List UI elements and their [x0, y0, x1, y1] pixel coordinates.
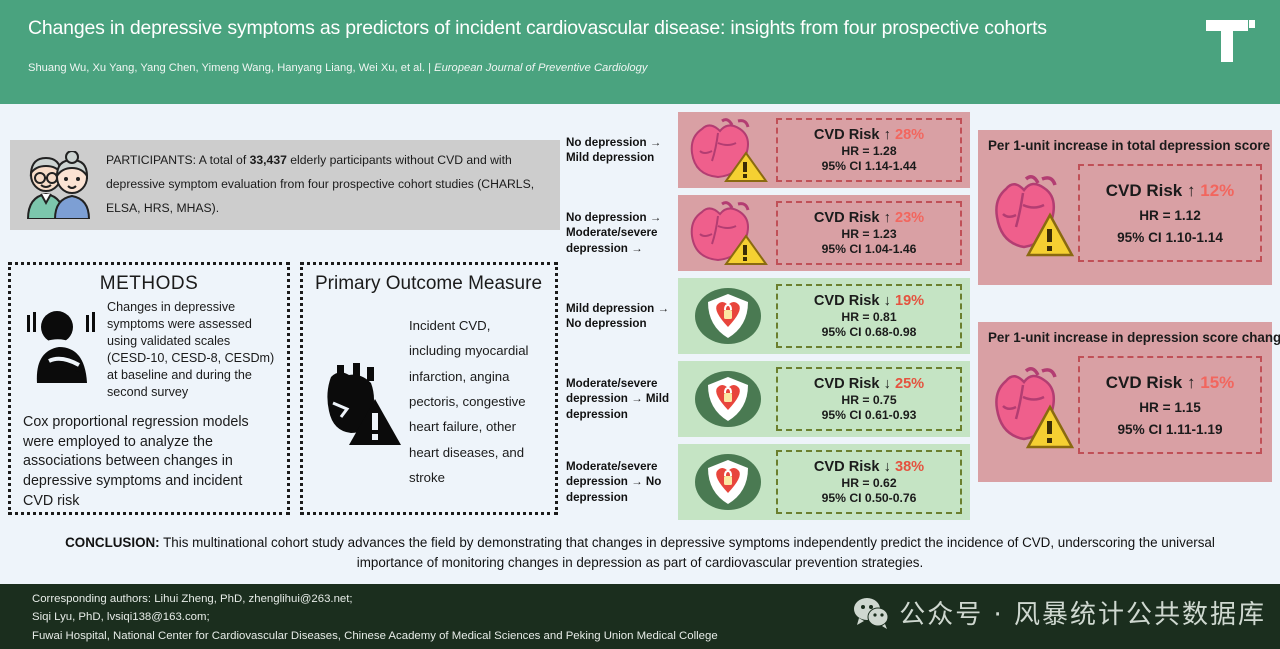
row-arrow-icon: ↑	[884, 127, 891, 143]
panel-ci: 95% CI 1.11-1.19	[1117, 422, 1222, 437]
row-hr: HR = 1.28	[841, 144, 896, 158]
row-percent: 19%	[895, 293, 924, 309]
row-percent: 23%	[895, 210, 924, 226]
row-percent: 25%	[895, 376, 924, 392]
row-risk-label: CVD Risk	[814, 293, 880, 309]
row-risk-headline: CVD Risk ↓ 25%	[814, 376, 924, 392]
anatomical-heart-warning-icon	[682, 200, 774, 266]
results-rows: No depression → Mild depression CVD Risk…	[566, 112, 970, 527]
panel-title: Per 1-unit increase in total depression …	[988, 138, 1262, 153]
row-hr: HR = 0.81	[841, 310, 896, 324]
outcome-title: Primary Outcome Measure	[315, 273, 543, 295]
panel-risk-label: CVD Risk	[1106, 181, 1183, 200]
author-names: Shuang Wu, Xu Yang, Yang Chen, Yimeng Wa…	[28, 62, 434, 74]
row-risk-label: CVD Risk	[814, 459, 880, 475]
panel-risk-headline: CVD Risk ↑ 15%	[1106, 373, 1235, 393]
primary-outcome-box: Primary Outcome Measure Incident CVD, in…	[300, 262, 558, 515]
watermark-text: 公众号 · 风暴统计公共数据库	[899, 594, 1266, 631]
table-row: No depression → Mild depression CVD Risk…	[566, 112, 970, 188]
participants-label: PARTICIPANTS:	[106, 153, 196, 167]
table-row: No depression → Moderate/severe depressi…	[566, 195, 970, 271]
row-ci: 95% CI 1.14-1.44	[822, 159, 917, 173]
conclusion-body: This multinational cohort study advances…	[160, 535, 1215, 570]
row-risk-headline: CVD Risk ↑ 28%	[814, 127, 924, 143]
row-hr: HR = 0.62	[841, 476, 896, 490]
journal-logo-icon	[1198, 12, 1256, 64]
participants-text: PARTICIPANTS: A total of 33,437 elderly …	[106, 149, 548, 220]
row-risk-label: CVD Risk	[814, 127, 880, 143]
row-arrow-icon: ↑	[884, 210, 891, 226]
row-label: No depression → Mild depression	[566, 135, 678, 166]
depression-score-change-panel: Per 1-unit increase in depression score …	[978, 322, 1272, 482]
methods-box: METHODS Changes in depressive symptoms w…	[8, 262, 290, 515]
table-row: Moderate/severe depression → No depressi…	[566, 444, 970, 520]
row-risk-label: CVD Risk	[814, 376, 880, 392]
anatomical-heart-warning-icon	[988, 167, 1074, 259]
header-banner: Changes in depressive symptoms as predic…	[0, 0, 1280, 104]
panel-percent: 12%	[1200, 181, 1234, 200]
row-arrow-icon: ↓	[884, 376, 891, 392]
shield-heart-lock-icon	[682, 366, 774, 432]
row-stats: CVD Risk ↑ 28% HR = 1.28 95% CI 1.14-1.4…	[776, 118, 962, 182]
outcome-text: Incident CVD, including myocardial infar…	[409, 313, 543, 490]
panel-hr: HR = 1.15	[1139, 400, 1201, 415]
row-card: CVD Risk ↓ 19% HR = 0.81 95% CI 0.68-0.9…	[678, 278, 970, 354]
methods-paragraph-2: Cox proportional regression models were …	[23, 413, 275, 512]
row-hr: HR = 1.23	[841, 227, 896, 241]
elderly-couple-icon	[22, 151, 94, 219]
row-risk-headline: CVD Risk ↓ 38%	[814, 459, 924, 475]
row-label: Moderate/severe depression → Mild depres…	[566, 376, 678, 423]
row-percent: 28%	[895, 127, 924, 143]
panel-percent: 15%	[1200, 373, 1234, 392]
page-title: Changes in depressive symptoms as predic…	[28, 16, 1260, 40]
conclusion-section: CONCLUSION: This multinational cohort st…	[0, 527, 1280, 584]
row-risk-headline: CVD Risk ↑ 23%	[814, 210, 924, 226]
anatomical-heart-warning-icon	[988, 359, 1074, 451]
participants-panel: PARTICIPANTS: A total of 33,437 elderly …	[10, 140, 560, 230]
table-row: Moderate/severe depression → Mild depres…	[566, 361, 970, 437]
row-percent: 38%	[895, 459, 924, 475]
conclusion-text: CONCLUSION: This multinational cohort st…	[46, 533, 1234, 574]
participants-text-before: A total of	[196, 153, 250, 167]
row-label: No depression → Moderate/severe depressi…	[566, 210, 678, 257]
row-stats: CVD Risk ↓ 38% HR = 0.62 95% CI 0.50-0.7…	[776, 450, 962, 514]
heart-warning-icon	[315, 359, 401, 445]
row-stats: CVD Risk ↓ 25% HR = 0.75 95% CI 0.61-0.9…	[776, 367, 962, 431]
row-card: CVD Risk ↑ 28% HR = 1.28 95% CI 1.14-1.4…	[678, 112, 970, 188]
depressed-person-icon	[23, 303, 101, 385]
row-ci: 95% CI 0.61-0.93	[822, 408, 917, 422]
row-risk-label: CVD Risk	[814, 210, 880, 226]
footer-bar: Corresponding authors: Lihui Zheng, PhD,…	[0, 584, 1280, 649]
journal-name: European Journal of Preventive Cardiolog…	[434, 62, 647, 74]
panel-risk-headline: CVD Risk ↑ 12%	[1106, 181, 1235, 201]
row-stats: CVD Risk ↓ 19% HR = 0.81 95% CI 0.68-0.9…	[776, 284, 962, 348]
anatomical-heart-warning-icon	[682, 117, 774, 183]
row-arrow-icon: ↓	[884, 459, 891, 475]
row-card: CVD Risk ↑ 23% HR = 1.23 95% CI 1.04-1.4…	[678, 195, 970, 271]
panel-arrow-icon: ↑	[1187, 373, 1196, 392]
panel-title: Per 1-unit increase in depression score …	[988, 330, 1262, 345]
graphical-abstract-page: Changes in depressive symptoms as predic…	[0, 0, 1280, 649]
panel-ci: 95% CI 1.10-1.14	[1117, 230, 1223, 245]
participants-count: 33,437	[250, 153, 287, 167]
row-risk-headline: CVD Risk ↓ 19%	[814, 293, 924, 309]
panel-arrow-icon: ↑	[1187, 181, 1196, 200]
author-line: Shuang Wu, Xu Yang, Yang Chen, Yimeng Wa…	[28, 61, 1260, 77]
row-ci: 95% CI 0.68-0.98	[822, 325, 917, 339]
panel-risk-label: CVD Risk	[1106, 373, 1183, 392]
row-ci: 95% CI 1.04-1.46	[822, 242, 917, 256]
methods-paragraph-1: Changes in depressive symptoms were asse…	[107, 299, 275, 401]
shield-heart-lock-icon	[682, 283, 774, 349]
total-depression-score-panel: Per 1-unit increase in total depression …	[978, 130, 1272, 285]
row-arrow-icon: ↓	[884, 293, 891, 309]
row-label: Mild depression → No depression	[566, 301, 678, 332]
row-hr: HR = 0.75	[841, 393, 896, 407]
row-card: CVD Risk ↓ 25% HR = 0.75 95% CI 0.61-0.9…	[678, 361, 970, 437]
row-card: CVD Risk ↓ 38% HR = 0.62 95% CI 0.50-0.7…	[678, 444, 970, 520]
row-stats: CVD Risk ↑ 23% HR = 1.23 95% CI 1.04-1.4…	[776, 201, 962, 265]
panel-stats: CVD Risk ↑ 12% HR = 1.12 95% CI 1.10-1.1…	[1078, 164, 1262, 262]
conclusion-label: CONCLUSION:	[65, 535, 159, 550]
wechat-icon	[853, 597, 889, 629]
table-row: Mild depression → No depression CVD Risk…	[566, 278, 970, 354]
panel-stats: CVD Risk ↑ 15% HR = 1.15 95% CI 1.11-1.1…	[1078, 356, 1262, 454]
row-ci: 95% CI 0.50-0.76	[822, 491, 917, 505]
panel-hr: HR = 1.12	[1139, 208, 1201, 223]
shield-heart-lock-icon	[682, 449, 774, 515]
watermark: 公众号 · 风暴统计公共数据库	[853, 594, 1266, 631]
methods-title: METHODS	[23, 273, 275, 295]
row-label: Moderate/severe depression → No depressi…	[566, 459, 678, 506]
